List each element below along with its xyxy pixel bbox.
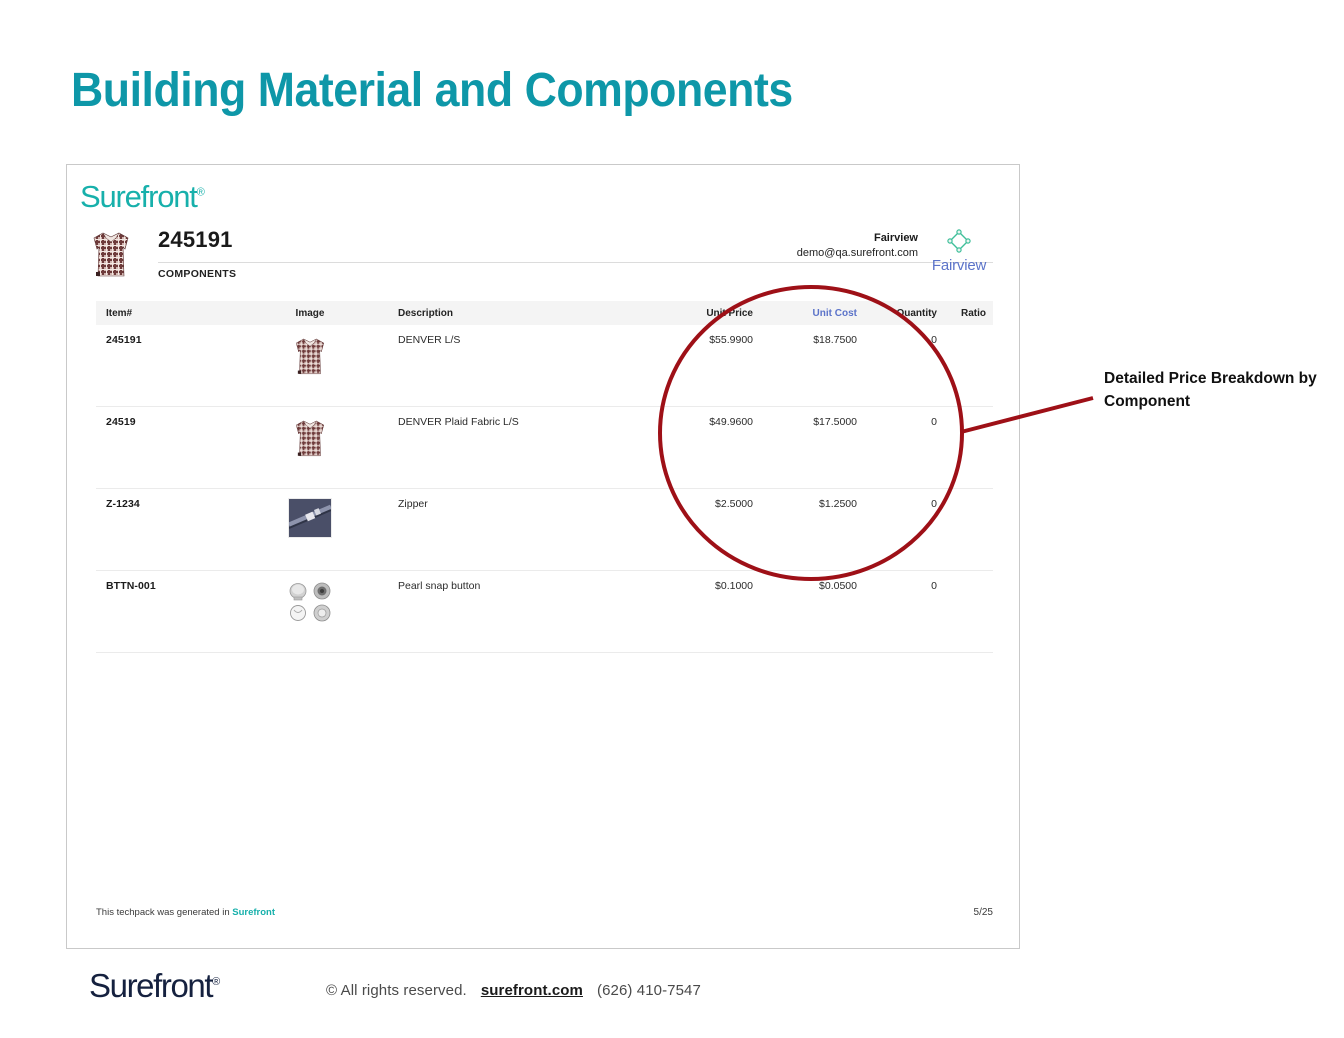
- document-account-info: Fairview demo@qa.surefront.com: [797, 231, 918, 261]
- table-header-row: Item# Image Description Unit Price Unit …: [96, 301, 993, 325]
- column-header-unit-cost: Unit Cost: [753, 308, 857, 319]
- document-footer: This techpack was generated in Surefront…: [96, 907, 993, 918]
- cell-unit-cost: $0.0500: [753, 580, 857, 592]
- cell-unit-price: $55.9900: [647, 334, 753, 346]
- surefront-footer-logo: Surefront®: [89, 967, 220, 1005]
- column-header-item: Item#: [96, 308, 264, 319]
- cell-unit-cost: $1.2500: [753, 498, 857, 510]
- surefront-logo-text: Surefront: [80, 179, 197, 214]
- document-section-label: COMPONENTS: [158, 268, 236, 280]
- generated-note-prefix: This techpack was generated in: [96, 907, 232, 918]
- column-header-ratio: Ratio: [937, 308, 993, 319]
- column-header-unit-price: Unit Price: [647, 308, 753, 319]
- cell-unit-price: $2.5000: [647, 498, 753, 510]
- cell-unit-price: $49.9600: [647, 416, 753, 428]
- table-row[interactable]: BTTN-001 P: [96, 571, 993, 653]
- cell-unit-cost: $18.7500: [753, 334, 857, 346]
- generated-note: This techpack was generated in Surefront: [96, 907, 275, 918]
- cell-description: DENVER Plaid Fabric L/S: [356, 416, 647, 428]
- cell-image: [264, 580, 356, 627]
- cell-unit-price: $0.1000: [647, 580, 753, 592]
- cell-item: Z-1234: [96, 498, 264, 510]
- fairview-brand-logo: Fairview: [925, 228, 993, 274]
- registered-trademark-icon: ®: [212, 976, 220, 988]
- fairview-brand-name: Fairview: [925, 257, 993, 274]
- components-table: Item# Image Description Unit Price Unit …: [96, 301, 993, 653]
- snap-button-thumbnail: [287, 580, 333, 624]
- surefront-logo: Surefront®: [80, 179, 205, 215]
- phone-number: (626) 410-7547: [597, 982, 701, 999]
- document-item-number: 245191: [158, 227, 233, 253]
- table-row[interactable]: 245191 DENVER L/S $55.9900 $18.7500 0: [96, 325, 993, 407]
- techpack-document-card: Surefront® 245191 COMP: [66, 164, 1020, 949]
- column-header-description: Description: [356, 308, 647, 319]
- column-header-image: Image: [264, 308, 356, 319]
- copyright-text: © All rights reserved.: [326, 982, 467, 999]
- account-company-name: Fairview: [797, 231, 918, 246]
- plaid-shirt-thumbnail: [293, 334, 327, 378]
- cell-description: DENVER L/S: [356, 334, 647, 346]
- cell-image: [264, 416, 356, 463]
- cell-quantity: 0: [857, 334, 937, 346]
- cell-image: [264, 334, 356, 381]
- column-header-quantity: Quantity: [857, 308, 937, 319]
- cell-unit-cost: $17.5000: [753, 416, 857, 428]
- annotation-label: Detailed Price Breakdown by Component: [1104, 368, 1334, 413]
- table-row[interactable]: Z-1234 Zipper $2.5000 $1.2500 0: [96, 489, 993, 571]
- cell-item: BTTN-001: [96, 580, 264, 592]
- cell-description: Zipper: [356, 498, 647, 510]
- plaid-shirt-thumbnail: [293, 416, 327, 460]
- page-indicator: 5/25: [974, 907, 993, 918]
- slide-footer-meta: © All rights reserved.surefront.com(626)…: [326, 982, 701, 999]
- cell-quantity: 0: [857, 416, 937, 428]
- document-header: 245191 COMPONENTS Fairview demo@qa.suref…: [80, 229, 993, 284]
- zipper-thumbnail: [288, 498, 332, 538]
- surefront-footer-logo-text: Surefront: [89, 967, 212, 1004]
- generated-note-brand: Surefront: [232, 907, 275, 918]
- cell-quantity: 0: [857, 498, 937, 510]
- cell-item: 24519: [96, 416, 264, 428]
- page-title: Building Material and Components: [71, 63, 793, 118]
- cell-image: [264, 498, 356, 540]
- header-divider: [158, 262, 993, 263]
- table-row[interactable]: 24519 DENVER Plaid Fabric L/S $49.9600 $…: [96, 407, 993, 489]
- plaid-shirt-thumbnail: [90, 229, 132, 279]
- cell-description: Pearl snap button: [356, 580, 647, 592]
- fairview-diamond-icon: [925, 228, 993, 259]
- cell-quantity: 0: [857, 580, 937, 592]
- registered-trademark-icon: ®: [197, 187, 205, 199]
- website-link[interactable]: surefront.com: [481, 982, 583, 999]
- cell-item: 245191: [96, 334, 264, 346]
- account-email: demo@qa.surefront.com: [797, 246, 918, 261]
